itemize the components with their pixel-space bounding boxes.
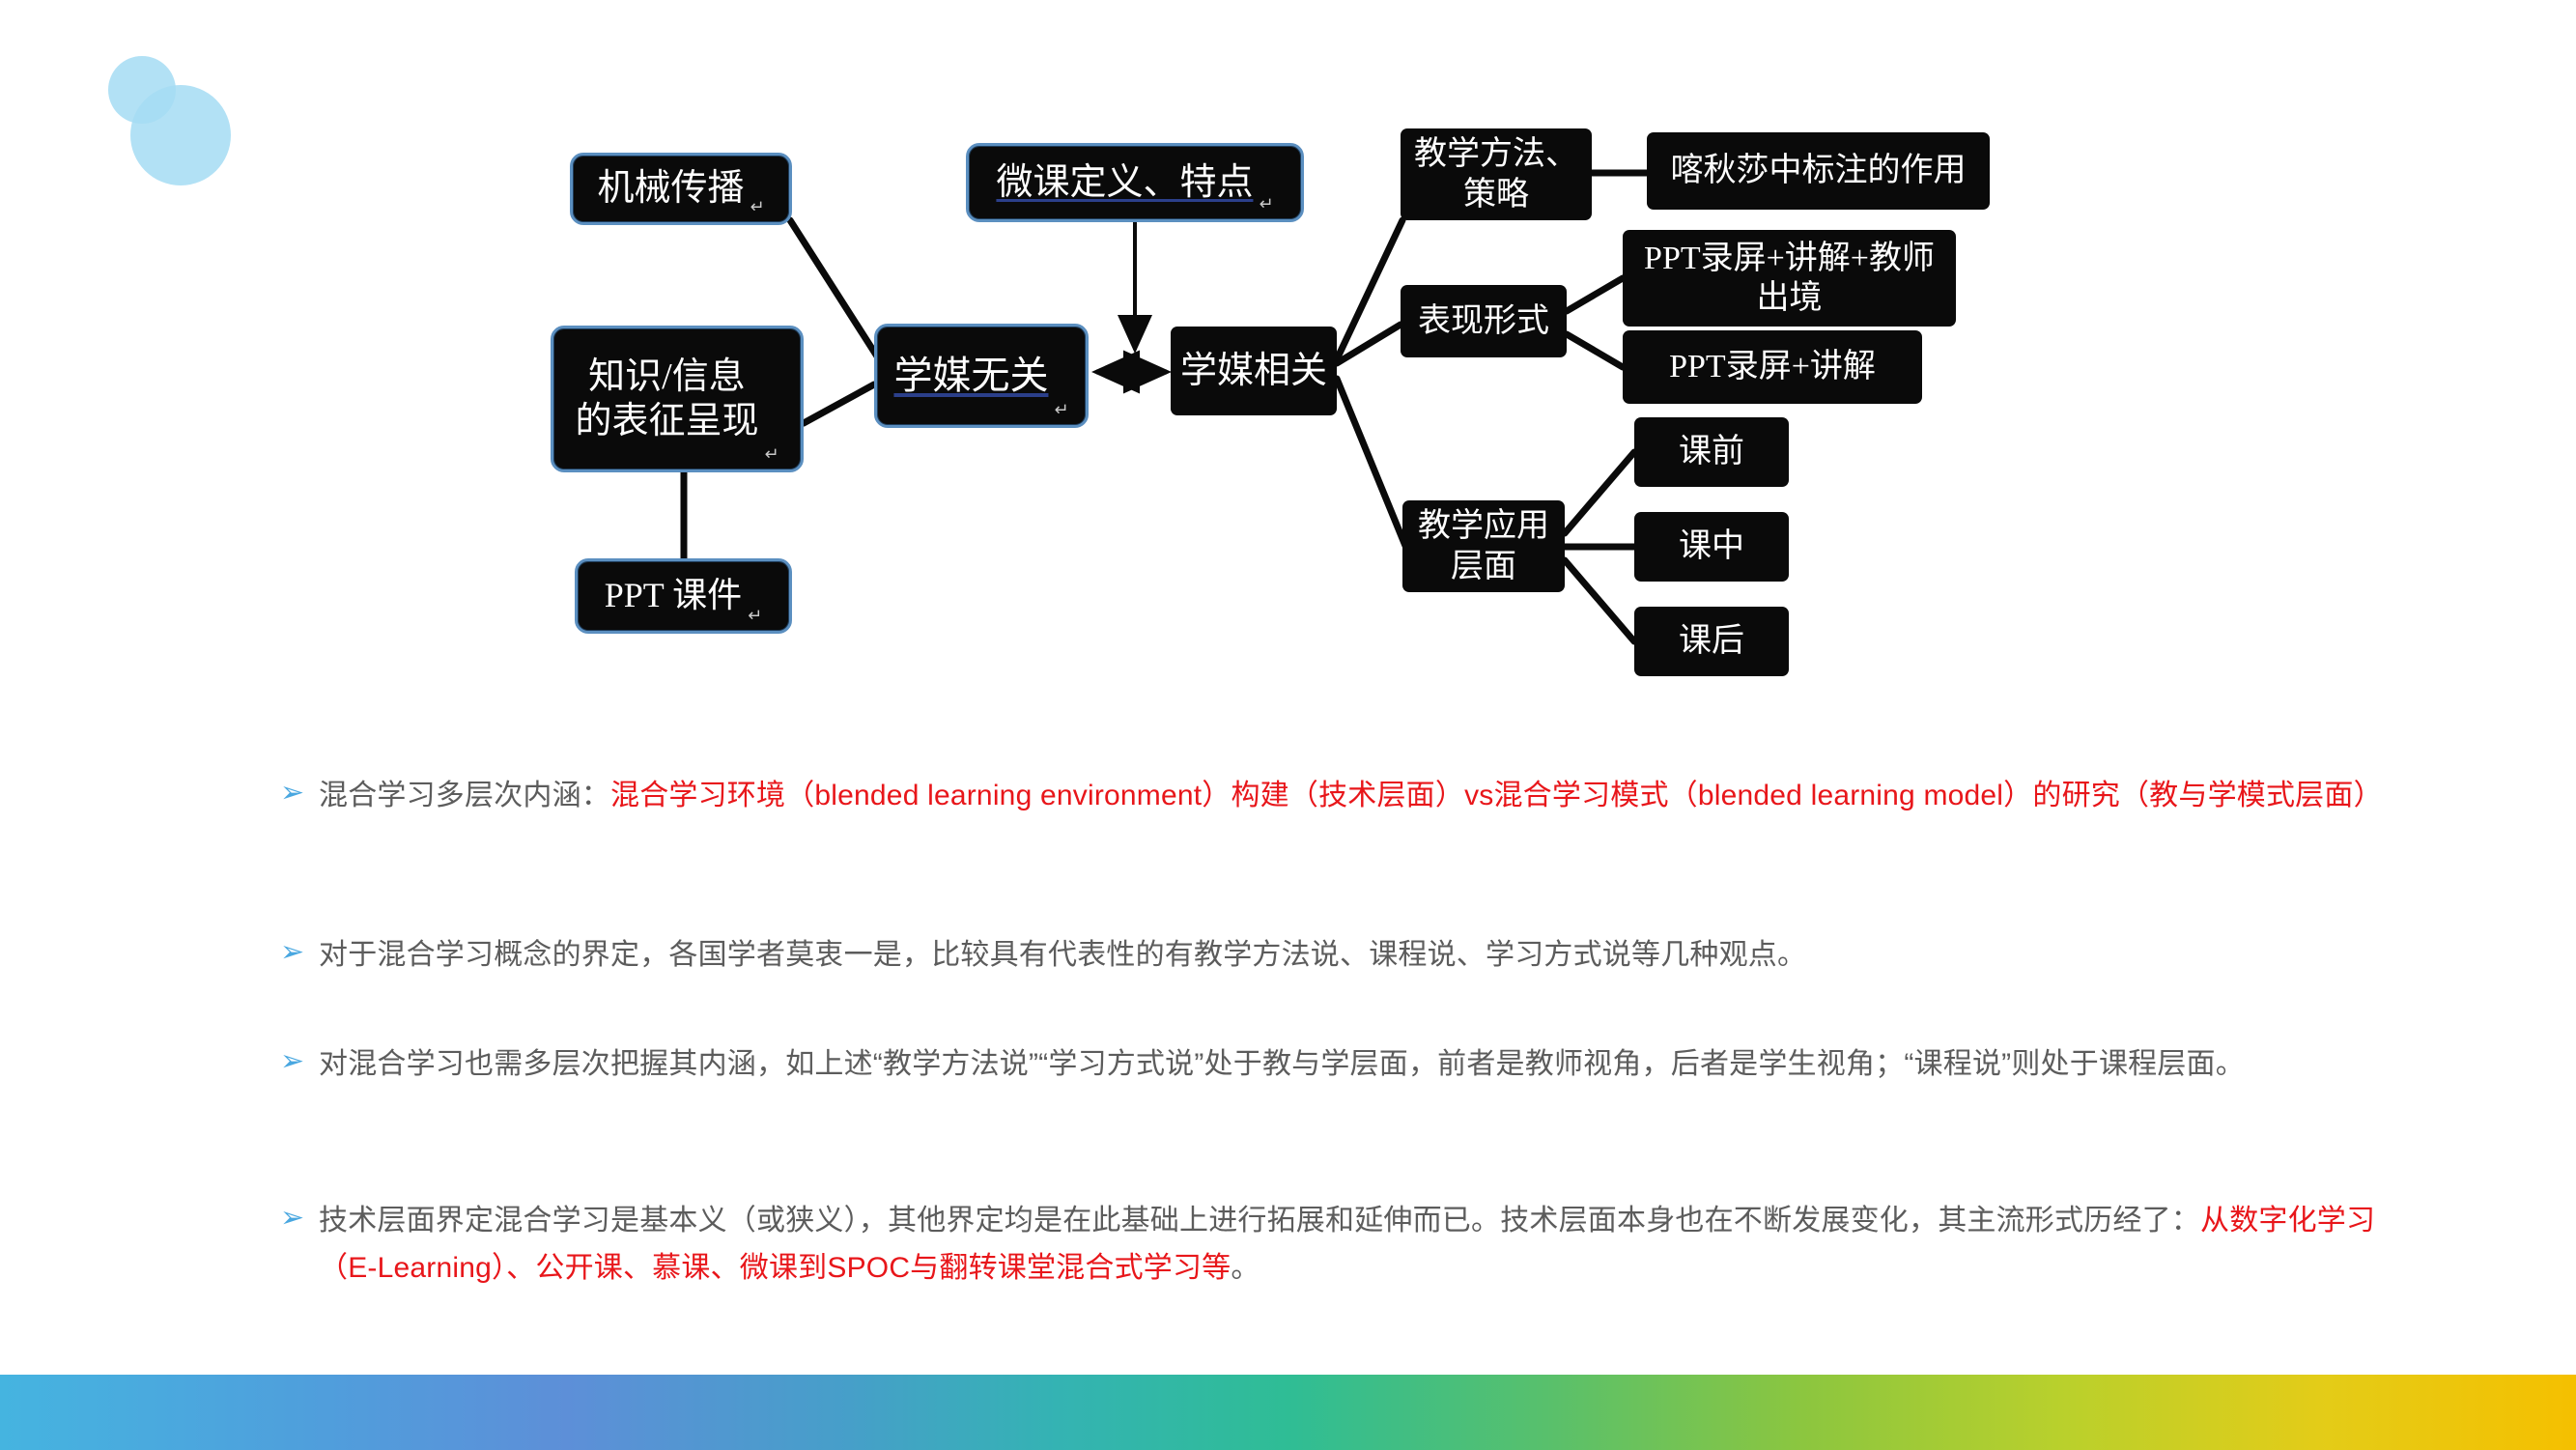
bullet-text: 对混合学习也需多层次把握其内涵，如上述“教学方法说”“学习方式说”处于教与学层面… xyxy=(319,1041,2245,1089)
paragraph-mark-icon: ↵ xyxy=(1259,194,1273,215)
diagram-node-n8: 喀秋莎中标注的作用 xyxy=(1647,132,1990,210)
paragraph-mark-icon: ↵ xyxy=(750,197,764,218)
diagram-node-n6: PPT 课件↵ xyxy=(575,558,792,634)
diagram-node-n10: PPT录屏+讲解+教师 出境 xyxy=(1623,230,1956,327)
diagram-node-label: PPT录屏+讲解+教师 出境 xyxy=(1644,239,1935,319)
bullet-text: 对于混合学习概念的界定，各国学者莫衷一是，比较具有代表性的有教学方法说、课程说、… xyxy=(319,932,1806,980)
bullet-text-run-gray: 对混合学习也需多层次把握其内涵，如上述“教学方法说”“学习方式说”处于教与学层面… xyxy=(319,1048,2245,1080)
diagram-node-n12: 教学应用 层面 xyxy=(1402,500,1565,592)
diagram-node-label: 机械传播 xyxy=(597,166,744,211)
bullet-item-3: ➢对混合学习也需多层次把握其内涵，如上述“教学方法说”“学习方式说”处于教与学层… xyxy=(280,1041,2386,1089)
diagram-node-label: 微课定义、特点 xyxy=(996,160,1253,205)
diagram-node-n4: 学媒无关↵ xyxy=(874,324,1089,428)
diagram-node-n5: 学媒相关 xyxy=(1171,327,1337,415)
diagram-node-n11: PPT录屏+讲解 xyxy=(1623,330,1922,404)
diagram-node-label: 课前 xyxy=(1679,432,1744,471)
diagram-node-label: 学媒相关 xyxy=(1180,349,1327,393)
diagram-node-n1: 机械传播↵ xyxy=(570,153,792,225)
bullet-item-2: ➢对于混合学习概念的界定，各国学者莫衷一是，比较具有代表性的有教学方法说、课程说… xyxy=(280,932,2386,980)
diagram-node-label: PPT 课件 xyxy=(605,575,742,617)
bullet-text-run-gray: 混合学习多层次内涵： xyxy=(319,780,610,811)
paragraph-mark-icon: ↵ xyxy=(748,606,762,627)
bullet-text-run-gray: 对于混合学习概念的界定，各国学者莫衷一是，比较具有代表性的有教学方法说、课程说、… xyxy=(319,939,1806,971)
bullet-text-run-gray: 。 xyxy=(1231,1252,1260,1284)
diagram-node-n14: 课中 xyxy=(1634,512,1789,582)
bullet-list: ➢混合学习多层次内涵：混合学习环境（blended learning envir… xyxy=(0,734,2576,1352)
bullet-item-4: ➢技术层面界定混合学习是基本义（或狭义），其他界定均是在此基础上进行拓展和延伸而… xyxy=(280,1198,2386,1292)
diagram-node-n2: 微课定义、特点↵ xyxy=(966,143,1304,222)
bullet-text-run-red: 混合学习环境（blended learning environment）构建（技… xyxy=(610,780,2383,811)
diagram-node-label: 教学方法、 策略 xyxy=(1414,134,1578,214)
bullet-arrow-icon: ➢ xyxy=(280,1041,319,1076)
diagram-node-label: 喀秋莎中标注的作用 xyxy=(1671,151,1967,190)
concept-map-diagram: 机械传播↵微课定义、特点↵知识/信息 的表征呈现↵学媒无关↵学媒相关PPT 课件… xyxy=(0,0,2576,734)
diagram-node-n7: 教学方法、 策略 xyxy=(1401,128,1592,220)
footer-gradient-bar xyxy=(0,1375,2576,1450)
bullet-text-run-gray: 技术层面界定混合学习是基本义（或狭义），其他界定均是在此基础上进行拓展和延伸而已… xyxy=(319,1205,2200,1237)
diagram-node-n3: 知识/信息 的表征呈现↵ xyxy=(551,326,804,472)
bullet-item-1: ➢混合学习多层次内涵：混合学习环境（blended learning envir… xyxy=(280,773,2386,820)
diagram-node-label: 课中 xyxy=(1679,526,1744,566)
diagram-node-n9: 表现形式 xyxy=(1401,285,1567,357)
bullet-arrow-icon: ➢ xyxy=(280,773,319,808)
diagram-node-n13: 课前 xyxy=(1634,417,1789,487)
diagram-node-label: 知识/信息 的表征呈现 xyxy=(575,355,758,444)
bullet-arrow-icon: ➢ xyxy=(280,1198,319,1233)
diagram-node-label: PPT录屏+讲解 xyxy=(1669,347,1876,386)
diagram-node-n15: 课后 xyxy=(1634,607,1789,676)
paragraph-mark-icon: ↵ xyxy=(1054,400,1068,421)
bullet-text: 技术层面界定混合学习是基本义（或狭义），其他界定均是在此基础上进行拓展和延伸而已… xyxy=(319,1198,2386,1292)
diagram-node-label: 课后 xyxy=(1679,621,1744,661)
paragraph-mark-icon: ↵ xyxy=(764,444,778,466)
bullet-text: 混合学习多层次内涵：混合学习环境（blended learning enviro… xyxy=(319,773,2383,820)
diagram-node-label: 学媒无关 xyxy=(893,353,1048,400)
diagram-node-label: 教学应用 层面 xyxy=(1418,506,1549,586)
diagram-node-label: 表现形式 xyxy=(1418,301,1549,341)
bullet-arrow-icon: ➢ xyxy=(280,932,319,967)
